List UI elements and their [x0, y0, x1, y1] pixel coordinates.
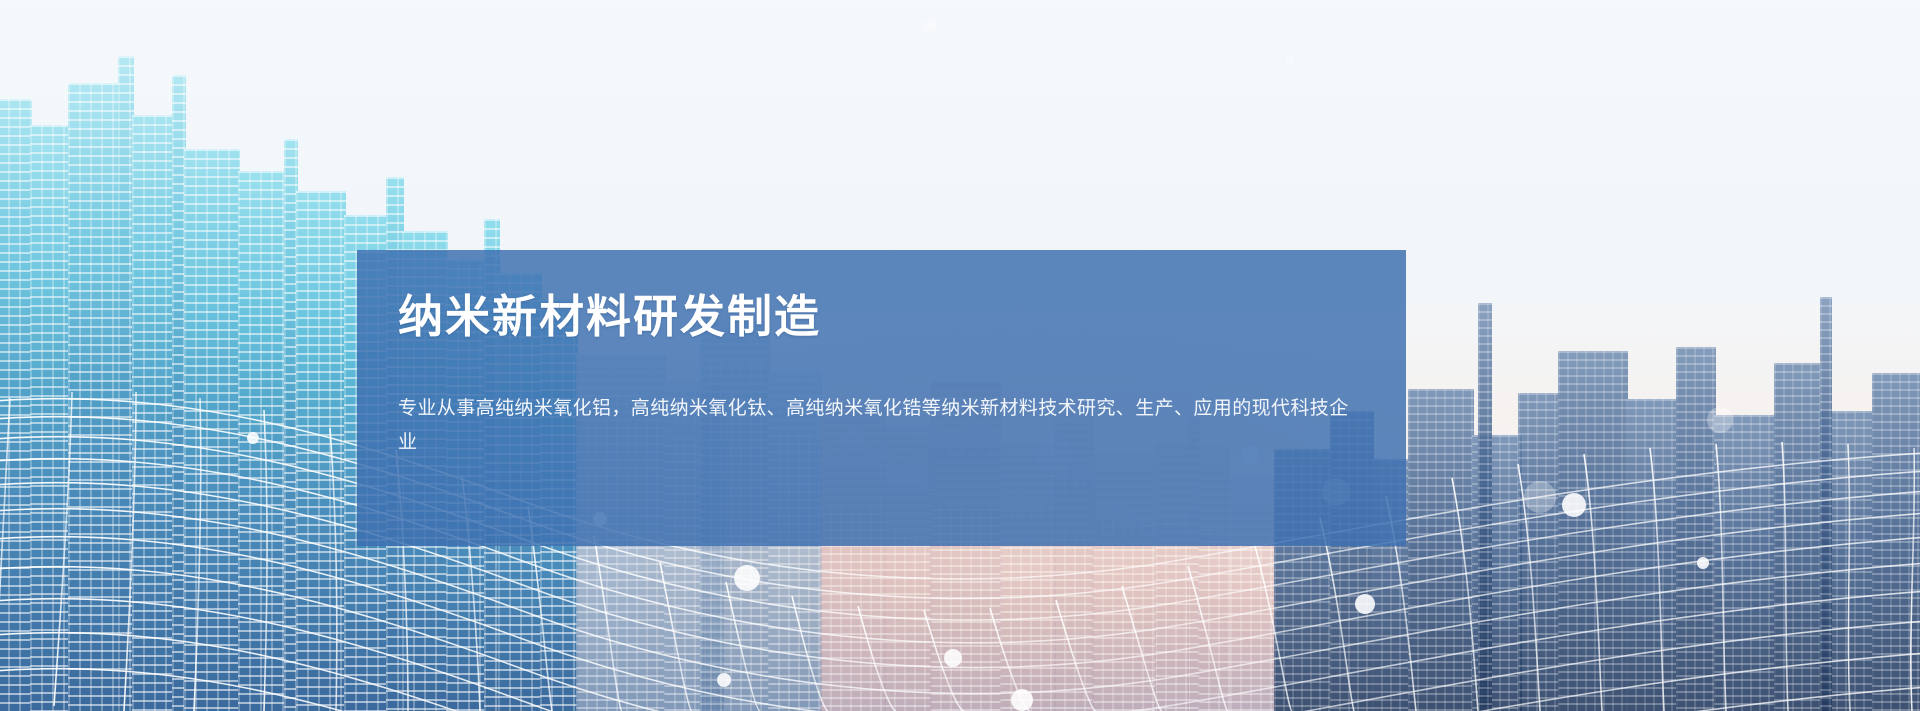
page-title: 纳米新材料研发制造 — [398, 294, 1406, 339]
page-subtitle: 专业从事高纯纳米氧化铝，高纯纳米氧化钛、高纯纳米氧化锆等纳米新材料技术研究、生产… — [398, 391, 1363, 459]
hero-banner: 纳米新材料研发制造 专业从事高纯纳米氧化铝，高纯纳米氧化钛、高纯纳米氧化锆等纳米… — [0, 0, 1920, 711]
hero-text-panel: 纳米新材料研发制造 专业从事高纯纳米氧化铝，高纯纳米氧化钛、高纯纳米氧化锆等纳米… — [357, 250, 1406, 546]
